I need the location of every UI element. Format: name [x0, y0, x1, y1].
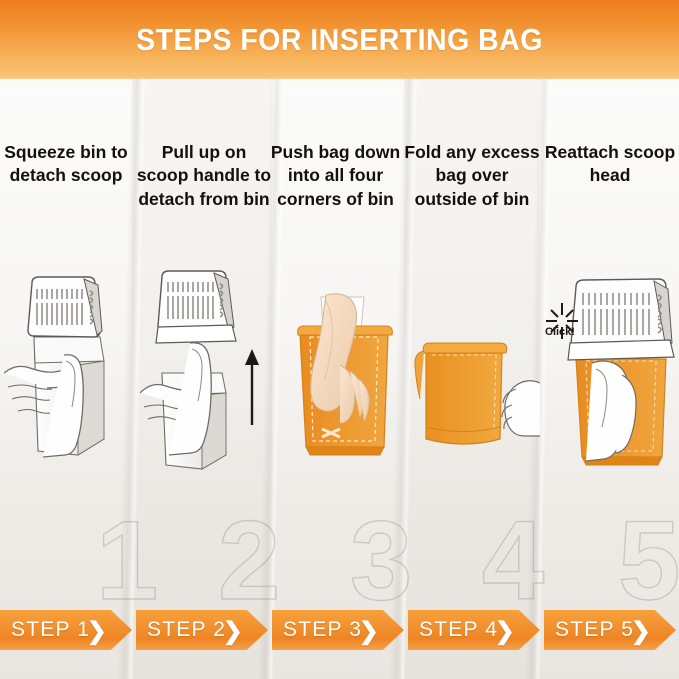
- illustration-step-1: [4, 269, 134, 484]
- step-badge-5[interactable]: STEP 5 ❯: [544, 610, 676, 650]
- header-banner: STEPS FOR INSERTING BAG: [0, 0, 679, 79]
- step-badge-label-2: STEP 2: [147, 618, 226, 642]
- step-badge-1[interactable]: STEP 1 ❯: [0, 610, 132, 650]
- step-badge-label-5: STEP 5: [555, 618, 634, 642]
- chevron-right-icon: ❯: [87, 617, 108, 646]
- step-badge-2[interactable]: STEP 2 ❯: [136, 610, 268, 650]
- illustration-step-5: [536, 269, 679, 486]
- steps-board: 1 2 3 4 5 Squeeze bin to detach scoop Pu…: [0, 79, 679, 679]
- watermark-number-5: 5: [618, 505, 679, 617]
- step-caption-2: Pull up on scoop handle to detach from b…: [134, 141, 274, 211]
- chevron-right-icon: ❯: [631, 617, 652, 646]
- infographic-root: STEPS FOR INSERTING BAG 1 2 3 4 5 Squeez…: [0, 0, 679, 679]
- illustration-step-4: [412, 331, 540, 456]
- step-caption-1: Squeeze bin to detach scoop: [0, 141, 136, 188]
- step-caption-3: Push bag down into all four corners of b…: [268, 141, 403, 211]
- watermark-number-2: 2: [218, 505, 280, 617]
- step-badge-label-1: STEP 1: [11, 618, 90, 642]
- step-badge-4[interactable]: STEP 4 ❯: [408, 610, 540, 650]
- watermark-number-1: 1: [96, 505, 158, 617]
- click-annotation: Click!: [545, 326, 575, 338]
- watermark-number-4: 4: [482, 505, 544, 617]
- step-badge-3[interactable]: STEP 3 ❯: [272, 610, 404, 650]
- illustration-step-3: [290, 291, 400, 476]
- step-caption-4: Fold any excess bag over outside of bin: [402, 141, 542, 211]
- chevron-right-icon: ❯: [495, 617, 516, 646]
- chevron-right-icon: ❯: [223, 617, 244, 646]
- step-caption-5: Reattach scoop head: [540, 141, 679, 188]
- page-title: STEPS FOR INSERTING BAG: [27, 22, 652, 58]
- chevron-right-icon: ❯: [359, 617, 380, 646]
- watermark-number-3: 3: [350, 505, 412, 617]
- step-badge-label-3: STEP 3: [283, 618, 362, 642]
- step-badge-label-4: STEP 4: [419, 618, 498, 642]
- illustration-step-2: [140, 265, 274, 486]
